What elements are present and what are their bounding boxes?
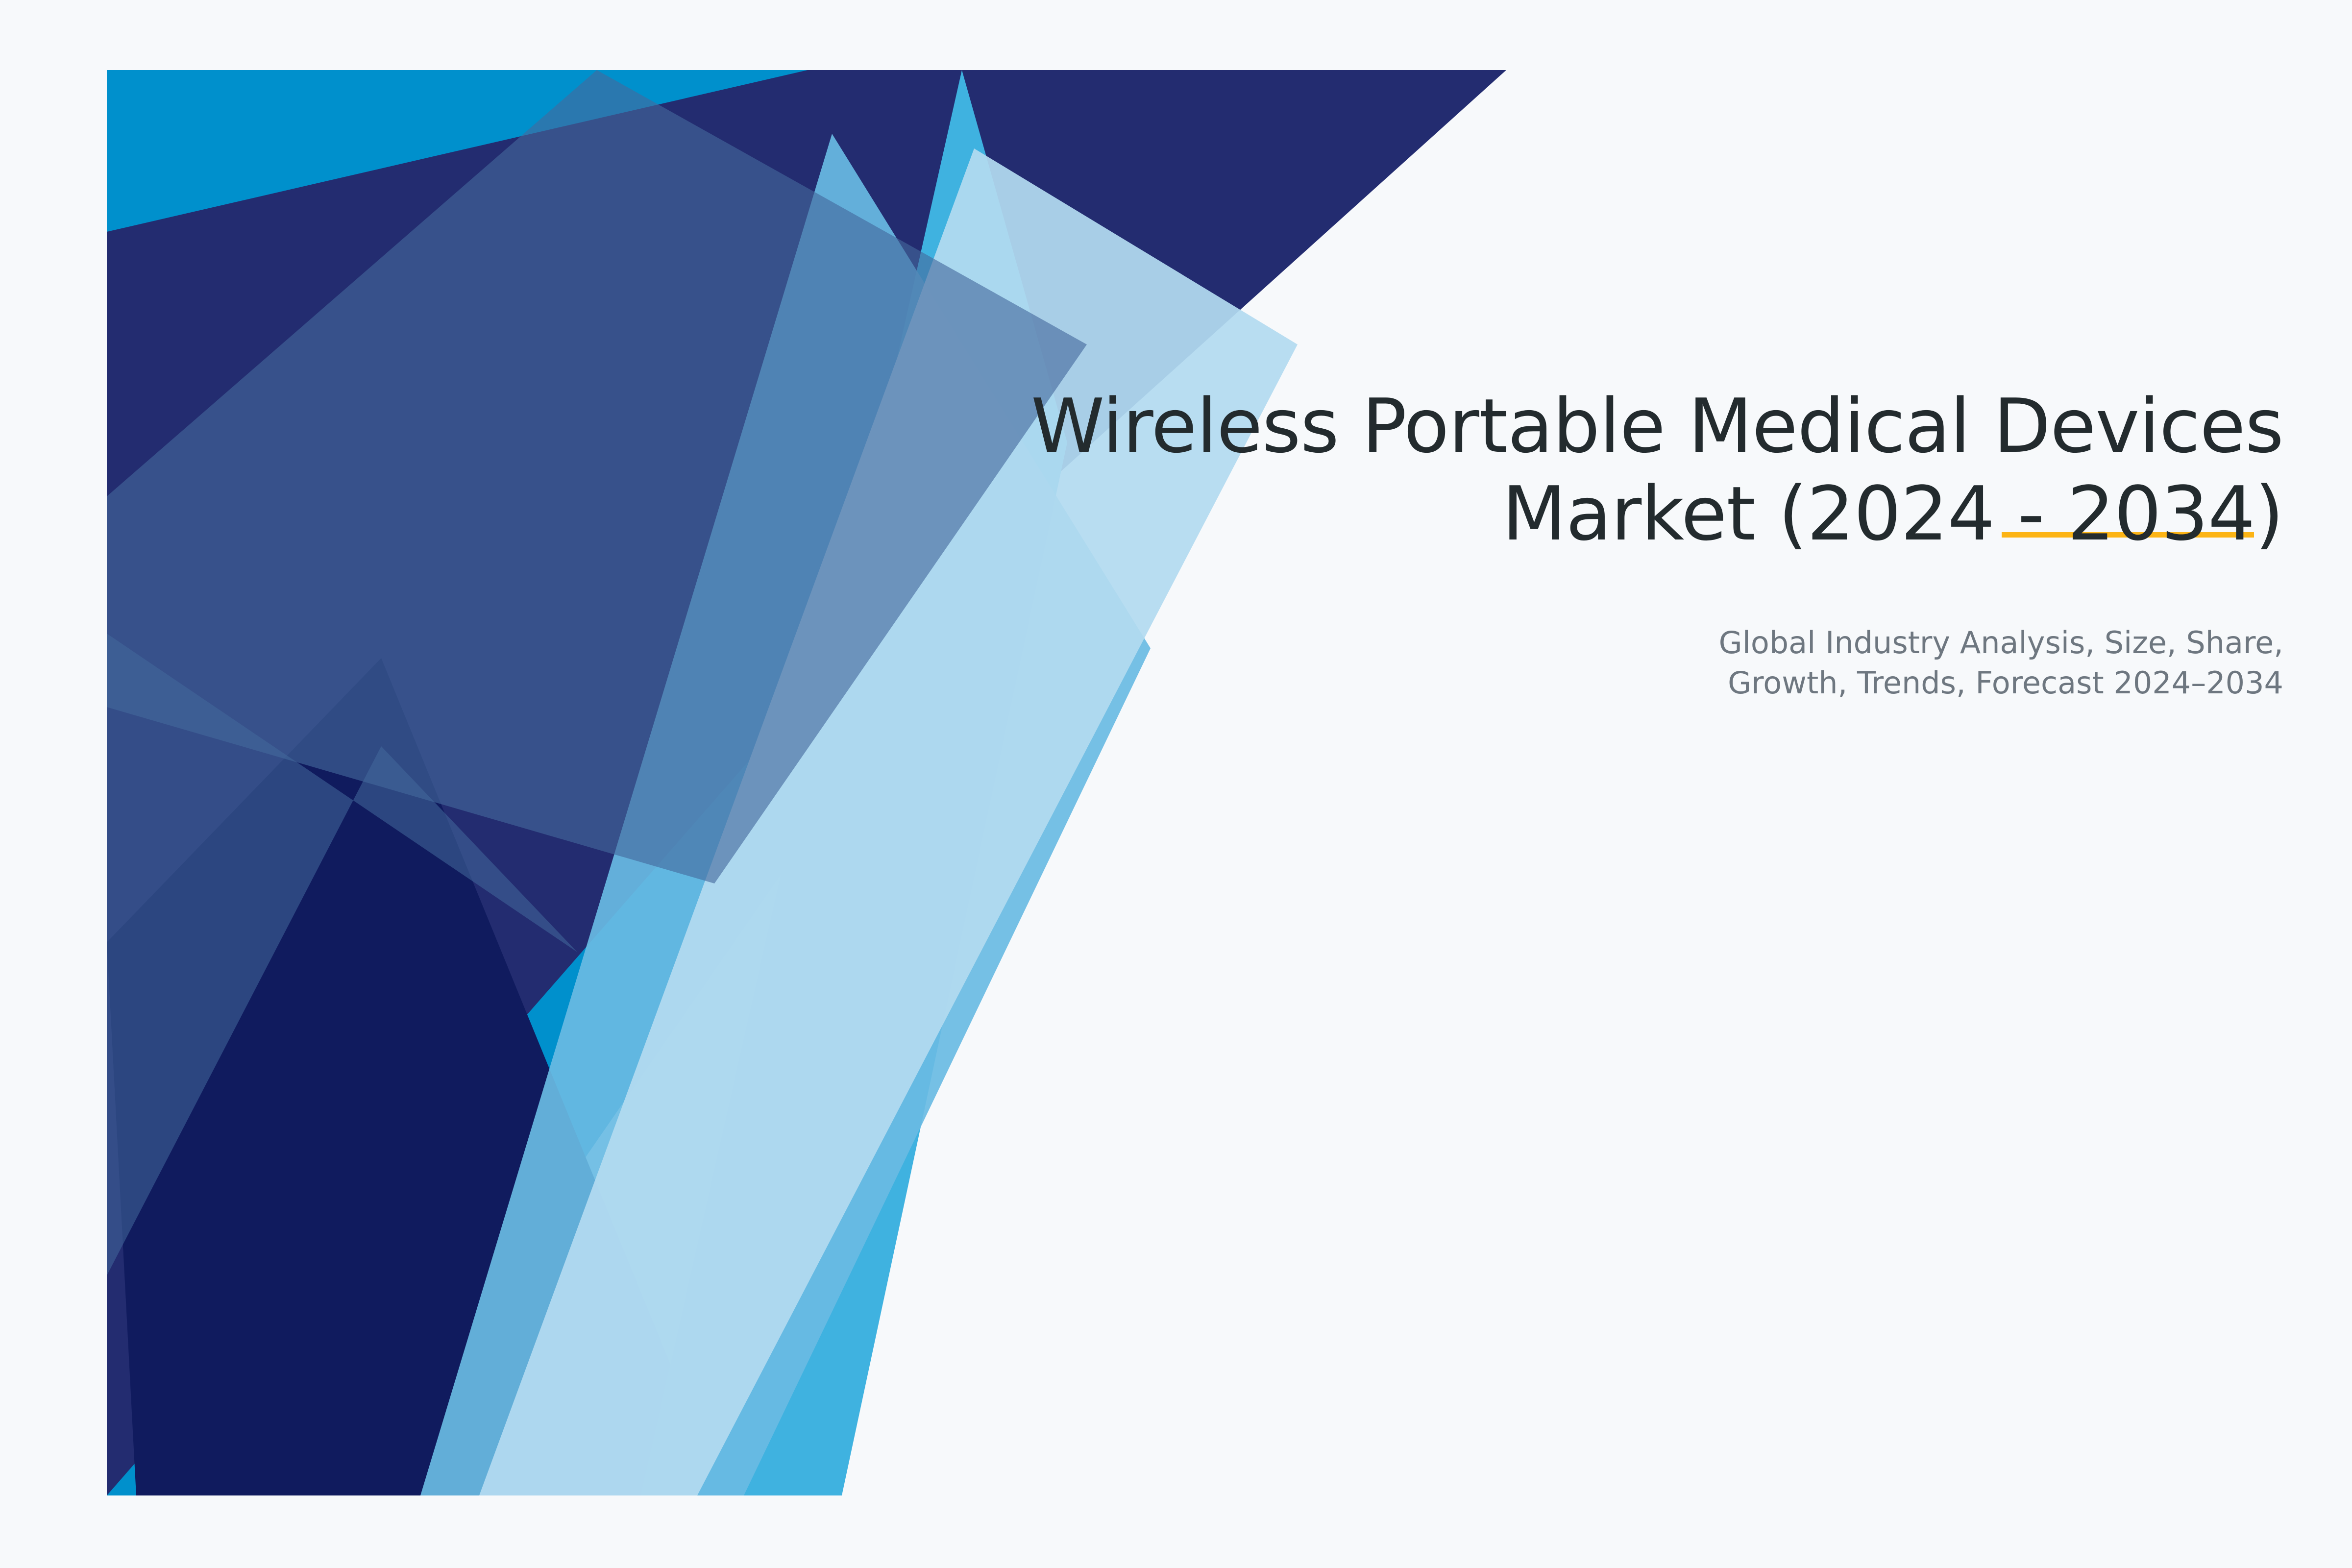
subtitle-line-2: Growth, Trends, Forecast 2024–2034: [1728, 665, 2283, 701]
subtitle-line-1: Global Industry Analysis, Size, Share,: [1719, 625, 2283, 661]
artwork-svg: [107, 70, 1506, 1495]
page-subtitle: Global Industry Analysis, Size, Share,Gr…: [784, 558, 2283, 704]
title-line-2: Market (2024 - 2034): [1502, 470, 2283, 557]
cover-text-block: Wireless Portable Medical DevicesMarket …: [784, 382, 2283, 704]
cover-artwork: [107, 70, 1506, 1495]
report-cover: Wireless Portable Medical DevicesMarket …: [0, 0, 2352, 1568]
title-line-1: Wireless Portable Medical Devices: [1031, 383, 2283, 469]
page-title: Wireless Portable Medical DevicesMarket …: [784, 382, 2283, 558]
